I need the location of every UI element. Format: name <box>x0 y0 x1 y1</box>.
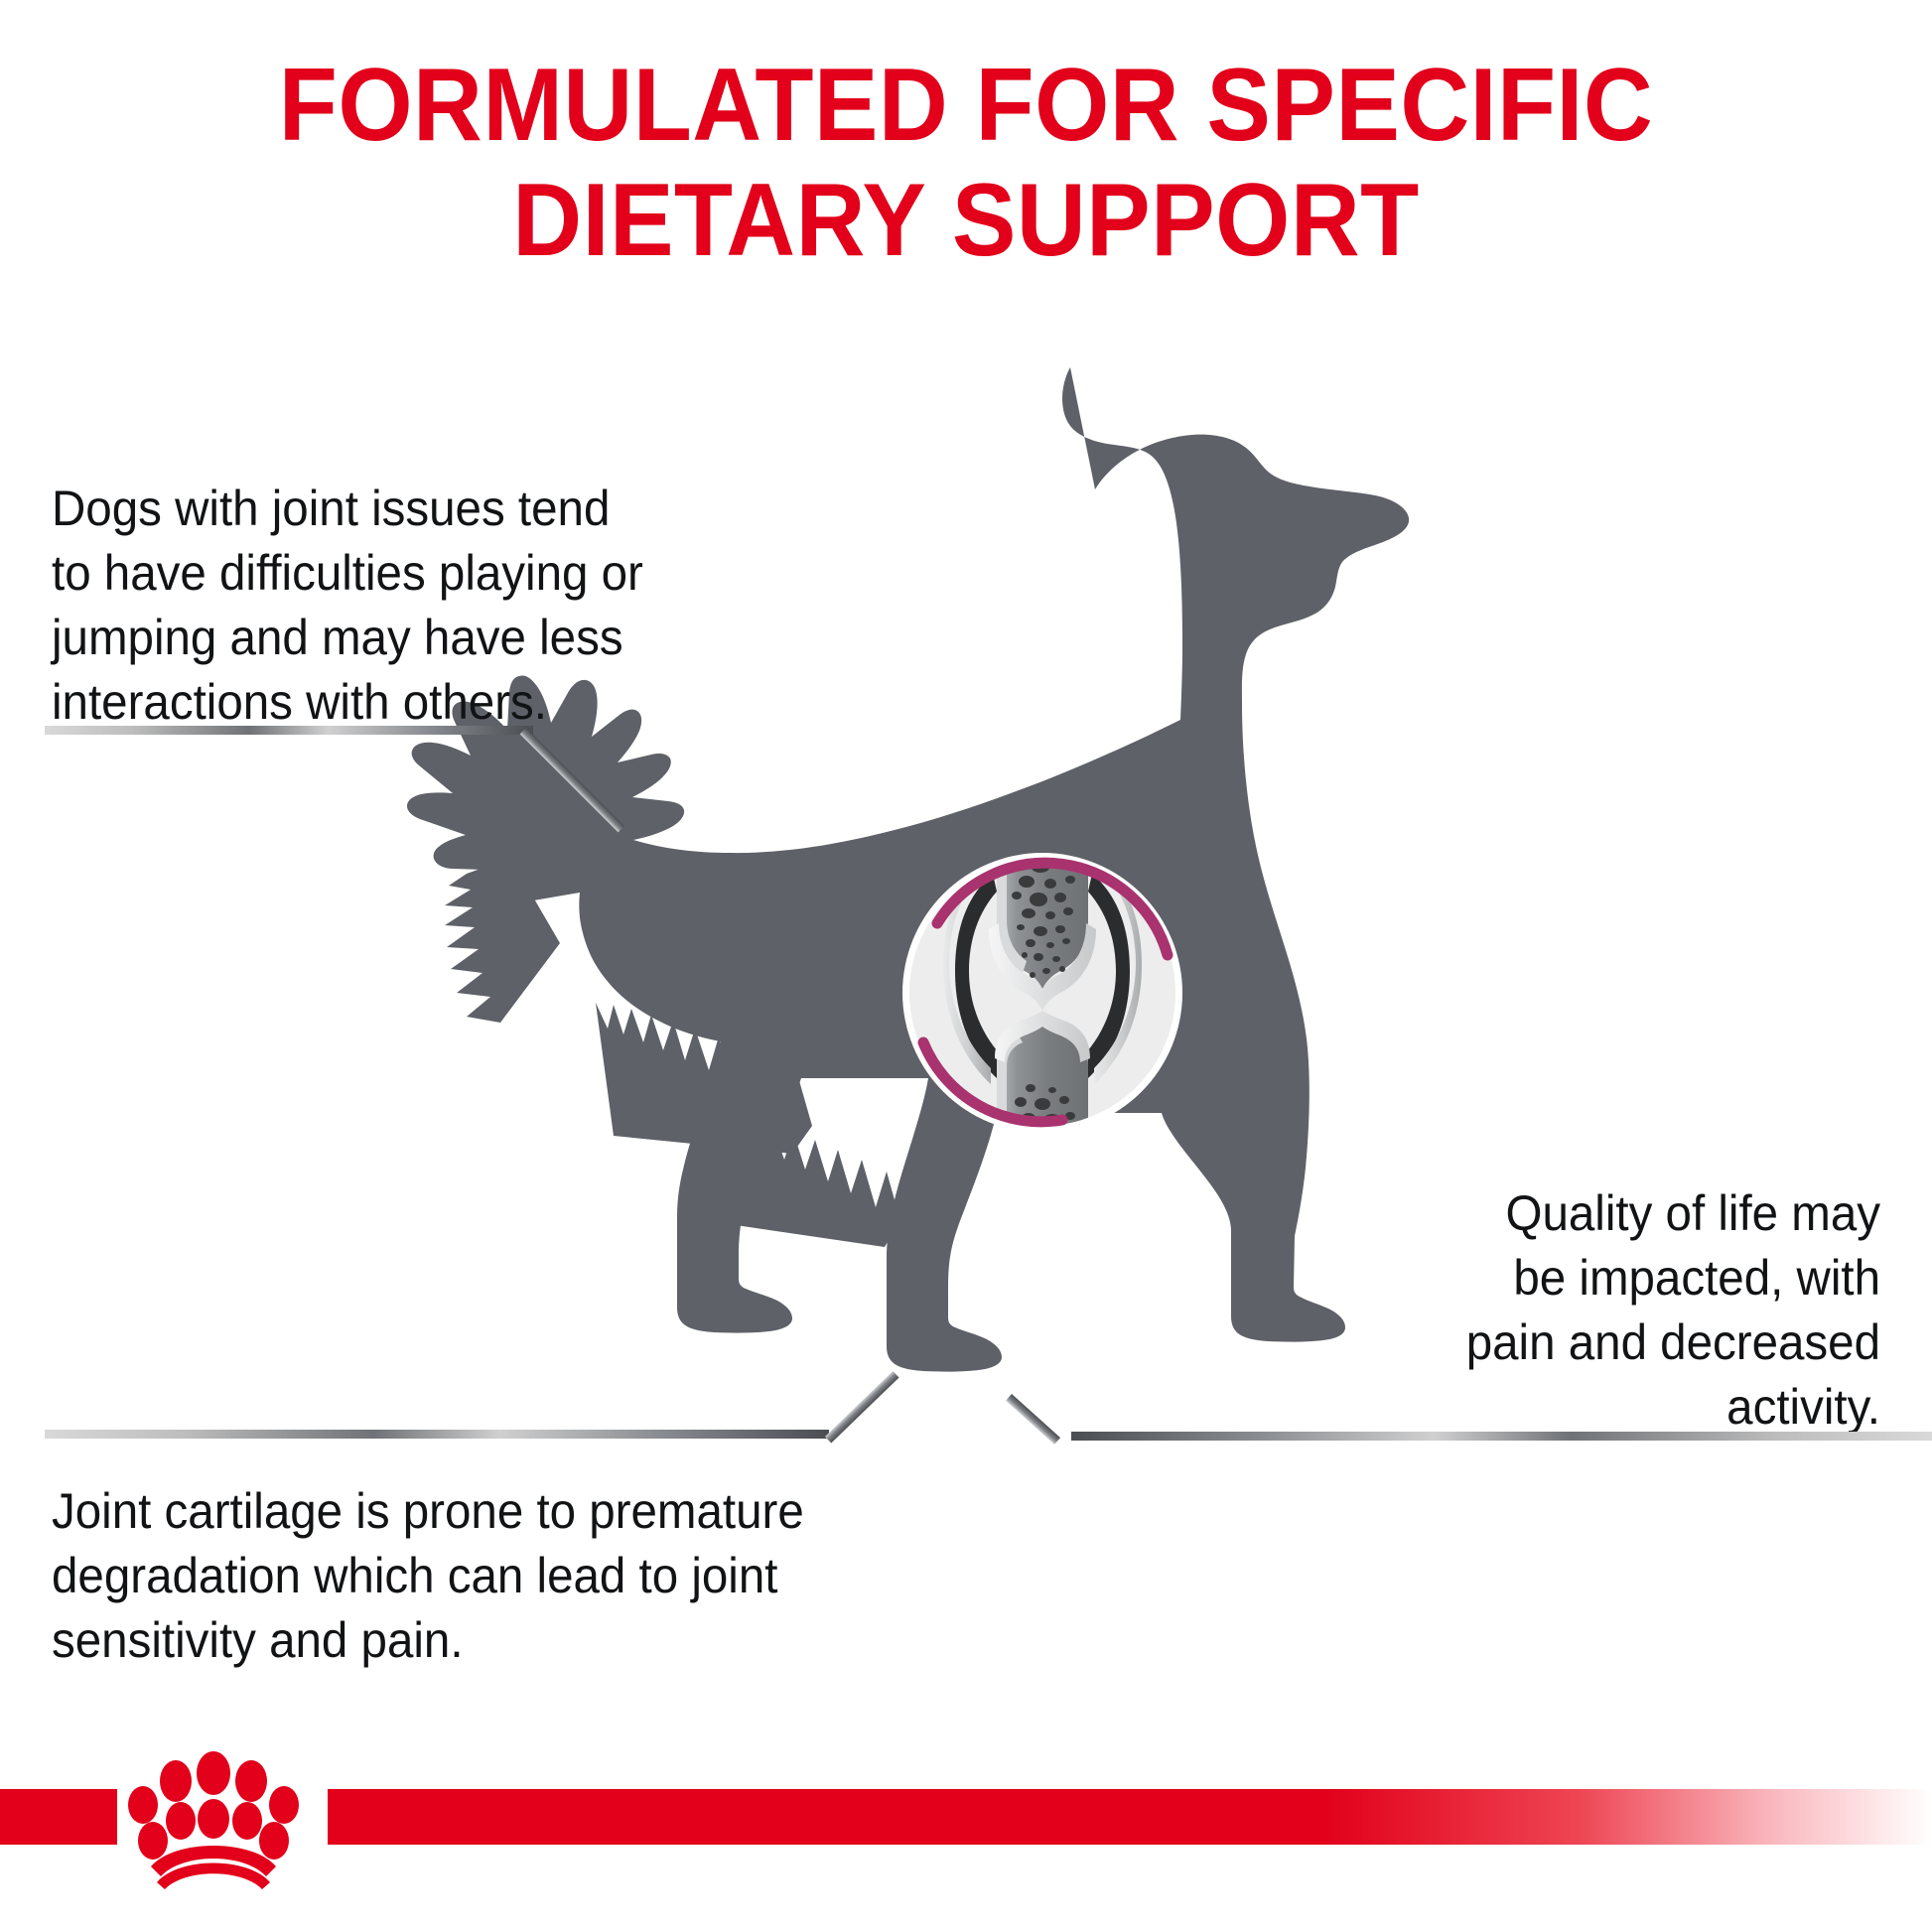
callout-top-left-text: Dogs with joint issues tend to have diff… <box>52 477 712 735</box>
infographic-canvas: FORMULATED FOR SPECIFIC DIETARY SUPPORT <box>0 0 1932 1932</box>
royal-canin-crown-logo <box>117 1743 332 1890</box>
footer-bar-left <box>0 1789 117 1845</box>
connector-bottom-left-horizontal <box>45 1430 829 1439</box>
connector-top-left-horizontal <box>45 726 533 735</box>
footer-bar-right <box>328 1789 1932 1845</box>
callout-bottom-left-text: Joint cartilage is prone to premature de… <box>52 1479 919 1673</box>
callout-bottom-right-text: Quality of life may be impacted, with pa… <box>1201 1181 1880 1440</box>
connector-bottom-right-horizontal <box>1071 1432 1932 1441</box>
